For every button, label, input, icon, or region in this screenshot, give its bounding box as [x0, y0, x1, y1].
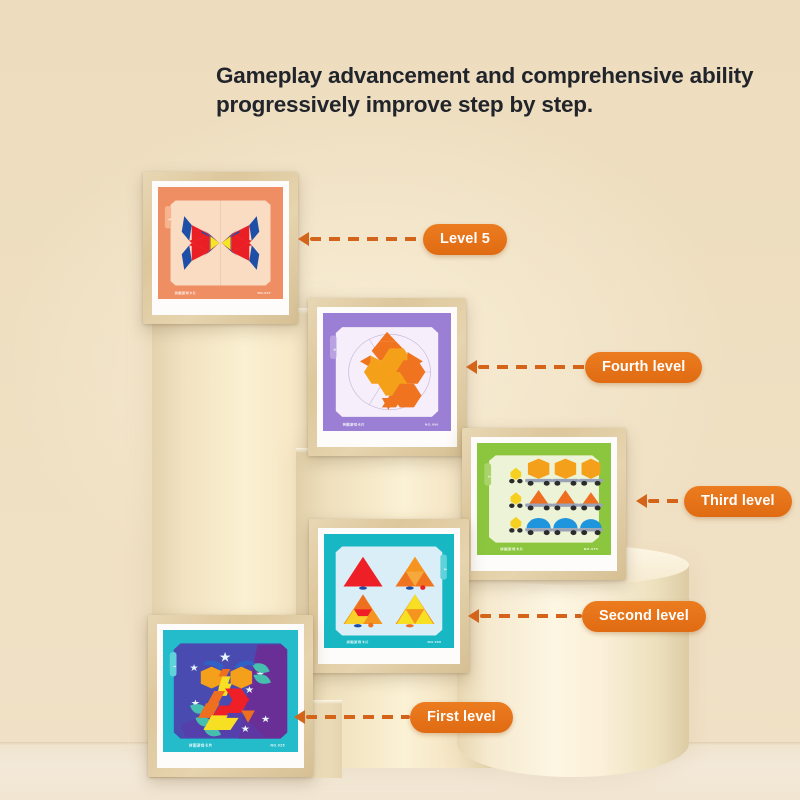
puzzle-card-level-2[interactable]: 2 拼图游戏卡片 NO.056 — [309, 519, 469, 673]
level-pill-5[interactable]: Level 5 — [423, 224, 507, 255]
puzzle-card-level-1[interactable]: 1 拼图游戏卡片 NO.025 — [148, 615, 313, 777]
callout-level-5[interactable]: Level 5 — [298, 224, 507, 254]
arrow-level-5 — [298, 232, 423, 246]
card-caption: 拼图游戏卡片 — [174, 290, 197, 295]
card-mat: 3 拼图游戏卡片 NO.075 — [471, 437, 617, 571]
board-level-1: 1 拼图游戏卡片 NO.025 — [163, 630, 298, 752]
level-pill-2[interactable]: Second level — [582, 601, 706, 632]
callout-level-4[interactable]: Fourth level — [466, 352, 702, 382]
puzzle-card-level-4[interactable]: 4 拼图游戏卡片 NO.006 — [308, 298, 466, 456]
arrow-head-icon — [466, 360, 477, 374]
arrow-dashed-line — [310, 237, 423, 241]
board-level-5: 5 拼图游戏卡片 NO.007 — [158, 187, 283, 299]
card-caption: 拼图游戏卡片 — [188, 743, 213, 748]
arrow-head-icon — [636, 494, 647, 508]
card-caption: 拼图游戏卡片 — [342, 422, 365, 427]
pedestal-cylinder — [457, 565, 689, 777]
card-side-tag: 5 — [167, 219, 171, 221]
card-mat: 4 拼图游戏卡片 NO.006 — [317, 307, 457, 447]
board-level-2: 2 拼图游戏卡片 NO.056 — [324, 534, 454, 648]
board-level-3: 3 拼图游戏卡片 NO.075 — [477, 443, 611, 555]
arrow-dashed-line — [306, 715, 410, 719]
level-pill-1[interactable]: First level — [410, 702, 513, 733]
arrow-dashed-line — [648, 499, 684, 503]
arrow-dashed-line — [480, 614, 582, 618]
puzzle-card-level-5[interactable]: 5 拼图游戏卡片 NO.007 — [143, 172, 298, 324]
card-caption: 拼图游戏卡片 — [345, 639, 369, 644]
arrow-dashed-line — [478, 365, 585, 369]
card-code: NO.025 — [271, 744, 285, 748]
arrow-head-icon — [298, 232, 309, 246]
card-code: NO.075 — [584, 547, 598, 551]
arrow-head-icon — [468, 609, 479, 623]
card-code: NO.007 — [258, 291, 271, 295]
arrow-head-icon — [294, 710, 305, 724]
arrow-level-1 — [294, 710, 410, 724]
arrow-level-3 — [636, 494, 684, 508]
card-side-tag: 2 — [443, 568, 447, 570]
level-pill-4[interactable]: Fourth level — [585, 352, 702, 383]
page-title-line-1: Gameplay advancement and comprehensive a… — [216, 62, 756, 91]
page-title-line-2: progressively improve step by step. — [216, 91, 756, 120]
callout-level-1[interactable]: First level — [294, 702, 513, 732]
card-code: NO.056 — [428, 640, 442, 644]
card-code: NO.006 — [425, 423, 439, 427]
board-level-4: 4 拼图游戏卡片 NO.006 — [323, 313, 451, 431]
puzzle-card-level-3[interactable]: 3 拼图游戏卡片 NO.075 — [462, 428, 626, 580]
page-title: Gameplay advancement and comprehensive a… — [216, 62, 756, 120]
callout-level-3[interactable]: Third level — [636, 486, 792, 516]
arrow-level-2 — [468, 609, 582, 623]
card-caption: 拼图游戏卡片 — [499, 546, 523, 551]
arrow-level-4 — [466, 360, 585, 374]
card-side-tag: 3 — [487, 476, 491, 478]
card-mat: 1 拼图游戏卡片 NO.025 — [157, 624, 304, 768]
card-mat: 5 拼图游戏卡片 NO.007 — [152, 181, 289, 315]
callout-level-2[interactable]: Second level — [468, 601, 706, 631]
card-mat: 2 拼图游戏卡片 NO.056 — [318, 528, 460, 664]
level-pill-3[interactable]: Third level — [684, 486, 792, 517]
